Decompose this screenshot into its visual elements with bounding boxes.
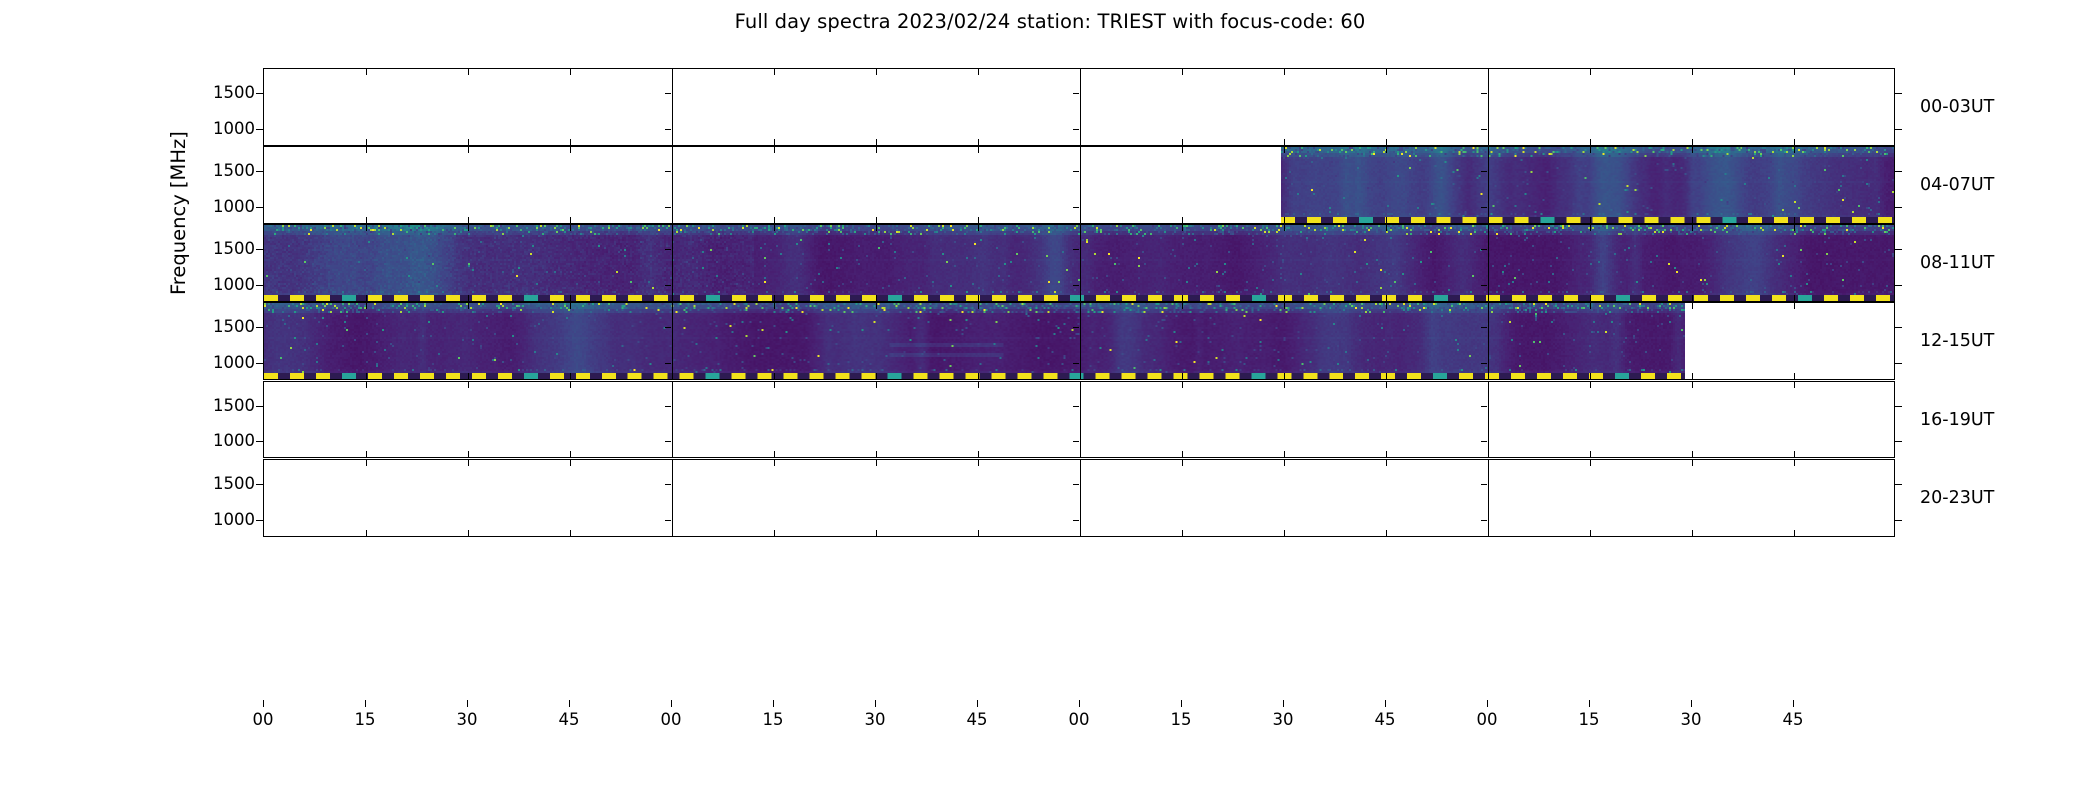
panel-gridline (1488, 382, 1489, 457)
spectrogram-row-panel (263, 224, 1895, 302)
panel-tick-stub (366, 139, 367, 145)
panel-tick-stub (876, 147, 877, 153)
x-tick-mark (773, 700, 774, 707)
x-tick-mark (875, 700, 876, 707)
panel-tick-stub (366, 69, 367, 75)
panel-tick-stub (1284, 382, 1285, 388)
x-tick-mark (263, 700, 264, 707)
panel-tick-stub (1182, 225, 1183, 231)
panel-tick-stub (1590, 147, 1591, 153)
y-tick-label: 1500 (193, 85, 255, 102)
y-tick-label: 1500 (193, 398, 255, 415)
x-tick-label: 45 (1355, 710, 1415, 729)
panel-gridline (1488, 460, 1489, 536)
panel-tick-stub (1590, 139, 1591, 145)
panel-inner-tick (1073, 520, 1079, 521)
y-tick-mark (256, 363, 263, 364)
spectrogram-row-panel (263, 146, 1895, 224)
x-tick-label: 00 (233, 710, 293, 729)
y-tick-label: 1000 (193, 355, 255, 372)
panel-inner-tick (1481, 484, 1487, 485)
y-tick-mark-right (1895, 285, 1902, 286)
panel-tick-stub (1284, 451, 1285, 457)
x-tick-mark (671, 700, 672, 707)
y-tick-mark (256, 129, 263, 130)
panel-gridline (1080, 147, 1081, 223)
panel-tick-stub (1692, 69, 1693, 75)
panel-inner-tick (665, 484, 671, 485)
y-tick-label: 1000 (193, 512, 255, 529)
panel-tick-stub (1692, 373, 1693, 379)
panel-tick-stub (1692, 225, 1693, 231)
y-tick-mark-right (1895, 93, 1902, 94)
panel-tick-stub (366, 382, 367, 388)
x-tick-label: 15 (1559, 710, 1619, 729)
panel-tick-stub (1284, 303, 1285, 309)
panel-inner-tick (665, 520, 671, 521)
x-tick-mark (467, 700, 468, 707)
panel-inner-tick (665, 171, 671, 172)
row-label-20-23ut: 20-23UT (1920, 488, 1994, 508)
panel-tick-stub (1386, 217, 1387, 223)
panel-tick-stub (570, 217, 571, 223)
y-tick-mark (256, 207, 263, 208)
x-tick-label: 30 (437, 710, 497, 729)
spectrogram-row-panel (263, 68, 1895, 146)
panel-tick-stub (1386, 373, 1387, 379)
panel-gridline (1488, 69, 1489, 145)
panel-inner-tick (1481, 441, 1487, 442)
panel-tick-stub (1182, 147, 1183, 153)
panel-tick-stub (1182, 530, 1183, 536)
panel-inner-tick (1073, 171, 1079, 172)
panel-inner-tick (665, 441, 671, 442)
panel-tick-stub (1284, 373, 1285, 379)
x-tick-label: 30 (1253, 710, 1313, 729)
panel-tick-stub (570, 382, 571, 388)
panel-tick-stub (366, 217, 367, 223)
panel-tick-stub (1590, 225, 1591, 231)
panel-tick-stub (1284, 295, 1285, 301)
row-label-08-11ut: 08-11UT (1920, 253, 1994, 273)
panel-tick-stub (1794, 225, 1795, 231)
x-tick-mark (1691, 700, 1692, 707)
panel-tick-stub (1692, 217, 1693, 223)
panel-tick-stub (570, 147, 571, 153)
panel-tick-stub (468, 295, 469, 301)
panel-tick-stub (774, 69, 775, 75)
panel-gridline (1080, 69, 1081, 145)
panel-tick-stub (366, 530, 367, 536)
panel-tick-stub (876, 530, 877, 536)
panel-tick-stub (1794, 69, 1795, 75)
y-tick-label: 1500 (193, 476, 255, 493)
panel-tick-stub (1386, 225, 1387, 231)
panel-gridline (672, 69, 673, 145)
x-tick-mark (1385, 700, 1386, 707)
panel-tick-stub (774, 147, 775, 153)
spectrogram-row-panel (263, 381, 1895, 458)
y-tick-label: 1000 (193, 199, 255, 216)
panel-inner-tick (1073, 207, 1079, 208)
panel-tick-stub (1386, 69, 1387, 75)
spectrogram-row-panel (263, 302, 1895, 380)
panel-tick-stub (774, 295, 775, 301)
row-label-12-15ut: 12-15UT (1920, 331, 1994, 351)
row-label-16-19ut: 16-19UT (1920, 410, 1994, 430)
x-tick-label: 30 (845, 710, 905, 729)
panel-tick-stub (1590, 530, 1591, 536)
y-tick-mark-right (1895, 249, 1902, 250)
panel-inner-tick (1073, 93, 1079, 94)
y-tick-mark (256, 406, 263, 407)
y-tick-mark (256, 441, 263, 442)
panel-gridline (672, 147, 673, 223)
panel-tick-stub (1794, 373, 1795, 379)
panel-inner-tick (665, 363, 671, 364)
panel-tick-stub (1386, 382, 1387, 388)
panel-tick-stub (1386, 451, 1387, 457)
x-tick-mark (977, 700, 978, 707)
panel-tick-stub (978, 295, 979, 301)
y-axis-label-text: Frequency [MHz] (167, 35, 190, 295)
panel-tick-stub (774, 303, 775, 309)
panel-tick-stub (468, 373, 469, 379)
x-tick-mark (1079, 700, 1080, 707)
x-tick-mark (365, 700, 366, 707)
spectrogram-row-panel (263, 459, 1895, 537)
panel-inner-tick (1481, 363, 1487, 364)
panel-tick-stub (1284, 530, 1285, 536)
x-tick-mark (1589, 700, 1590, 707)
y-tick-mark (256, 520, 263, 521)
panel-gridline (1488, 225, 1489, 301)
panel-tick-stub (774, 217, 775, 223)
panel-gridline (1080, 382, 1081, 457)
panel-tick-stub (1182, 139, 1183, 145)
panel-tick-stub (876, 217, 877, 223)
y-tick-label: 1000 (193, 121, 255, 138)
spectrogram-data (264, 303, 1685, 379)
panel-tick-stub (468, 530, 469, 536)
panel-tick-stub (1794, 460, 1795, 466)
panel-tick-stub (1182, 451, 1183, 457)
panel-tick-stub (468, 225, 469, 231)
panel-tick-stub (1794, 530, 1795, 536)
y-tick-mark-right (1895, 171, 1902, 172)
panel-tick-stub (1284, 460, 1285, 466)
panel-tick-stub (1182, 382, 1183, 388)
panel-tick-stub (1182, 303, 1183, 309)
panel-tick-stub (774, 460, 775, 466)
panel-gridline (672, 460, 673, 536)
x-tick-mark (569, 700, 570, 707)
panel-gridline (672, 225, 673, 301)
panel-tick-stub (1590, 303, 1591, 309)
panel-tick-stub (876, 139, 877, 145)
panel-tick-stub (1590, 460, 1591, 466)
panel-tick-stub (1590, 373, 1591, 379)
panel-tick-stub (468, 139, 469, 145)
y-tick-mark-right (1895, 484, 1902, 485)
panel-inner-tick (1073, 441, 1079, 442)
panel-tick-stub (1692, 147, 1693, 153)
panel-tick-stub (978, 530, 979, 536)
panel-tick-stub (366, 295, 367, 301)
panel-tick-stub (1386, 530, 1387, 536)
panel-inner-tick (665, 327, 671, 328)
y-tick-mark-right (1895, 406, 1902, 407)
row-label-04-07ut: 04-07UT (1920, 175, 1994, 195)
y-tick-label: 1000 (193, 433, 255, 450)
panel-tick-stub (570, 373, 571, 379)
panel-gridline (1080, 225, 1081, 301)
panel-tick-stub (876, 295, 877, 301)
panel-tick-stub (1692, 295, 1693, 301)
y-tick-label: 1000 (193, 277, 255, 294)
panel-tick-stub (876, 373, 877, 379)
x-tick-label: 45 (1763, 710, 1823, 729)
panel-tick-stub (1590, 382, 1591, 388)
y-tick-mark-right (1895, 363, 1902, 364)
panel-tick-stub (774, 451, 775, 457)
panel-tick-stub (468, 382, 469, 388)
panel-tick-stub (978, 451, 979, 457)
panel-tick-stub (774, 139, 775, 145)
panel-tick-stub (1794, 382, 1795, 388)
y-tick-mark (256, 93, 263, 94)
panel-tick-stub (1692, 530, 1693, 536)
panel-inner-tick (1073, 406, 1079, 407)
panel-tick-stub (1692, 451, 1693, 457)
panel-tick-stub (1590, 295, 1591, 301)
row-label-00-03ut: 00-03UT (1920, 97, 1994, 117)
panel-tick-stub (1386, 303, 1387, 309)
panel-tick-stub (468, 303, 469, 309)
panel-gridline (1488, 303, 1489, 379)
y-tick-mark-right (1895, 207, 1902, 208)
panel-tick-stub (366, 303, 367, 309)
y-tick-mark (256, 484, 263, 485)
panel-tick-stub (468, 147, 469, 153)
panel-tick-stub (978, 373, 979, 379)
x-tick-mark (1283, 700, 1284, 707)
panel-gridline (1488, 147, 1489, 223)
y-tick-mark (256, 249, 263, 250)
x-tick-label: 00 (641, 710, 701, 729)
panel-tick-stub (468, 217, 469, 223)
panel-tick-stub (876, 460, 877, 466)
panel-inner-tick (665, 406, 671, 407)
panel-tick-stub (1794, 451, 1795, 457)
panel-tick-stub (1590, 69, 1591, 75)
panel-inner-tick (1073, 363, 1079, 364)
y-tick-mark-right (1895, 520, 1902, 521)
panel-tick-stub (570, 69, 571, 75)
panel-tick-stub (978, 147, 979, 153)
panel-tick-stub (876, 382, 877, 388)
panel-inner-tick (1073, 129, 1079, 130)
panel-inner-tick (1481, 285, 1487, 286)
y-tick-mark-right (1895, 327, 1902, 328)
panel-tick-stub (570, 139, 571, 145)
panel-inner-tick (665, 93, 671, 94)
panel-tick-stub (1590, 451, 1591, 457)
x-tick-label: 30 (1661, 710, 1721, 729)
panel-inner-tick (665, 285, 671, 286)
x-tick-label: 45 (539, 710, 599, 729)
panel-tick-stub (570, 225, 571, 231)
x-tick-mark (1181, 700, 1182, 707)
y-tick-mark-right (1895, 129, 1902, 130)
panel-tick-stub (1692, 303, 1693, 309)
panel-tick-stub (1590, 217, 1591, 223)
panel-tick-stub (1386, 295, 1387, 301)
panel-inner-tick (1073, 249, 1079, 250)
panel-tick-stub (1386, 139, 1387, 145)
x-tick-mark (1793, 700, 1794, 707)
panel-tick-stub (774, 225, 775, 231)
panel-tick-stub (366, 147, 367, 153)
panel-tick-stub (1182, 460, 1183, 466)
panel-tick-stub (468, 69, 469, 75)
panel-tick-stub (1386, 460, 1387, 466)
panel-inner-tick (1481, 327, 1487, 328)
spectrogram-figure: Full day spectra 2023/02/24 station: TRI… (0, 0, 2100, 800)
panel-tick-stub (978, 69, 979, 75)
panel-tick-stub (366, 373, 367, 379)
y-tick-mark (256, 327, 263, 328)
panel-gridline (672, 382, 673, 457)
panel-tick-stub (1794, 217, 1795, 223)
panel-inner-tick (1481, 207, 1487, 208)
panel-inner-tick (1481, 129, 1487, 130)
panel-tick-stub (876, 451, 877, 457)
panel-tick-stub (1794, 295, 1795, 301)
panel-tick-stub (978, 303, 979, 309)
panel-tick-stub (876, 303, 877, 309)
panel-tick-stub (1692, 139, 1693, 145)
panel-tick-stub (468, 460, 469, 466)
panel-tick-stub (978, 139, 979, 145)
panel-tick-stub (876, 69, 877, 75)
panel-gridline (1080, 460, 1081, 536)
panel-tick-stub (1386, 147, 1387, 153)
panel-inner-tick (665, 249, 671, 250)
panel-inner-tick (1073, 484, 1079, 485)
y-axis-label: Frequency [MHz] (167, 35, 190, 295)
panel-inner-tick (1481, 520, 1487, 521)
panel-inner-tick (1481, 93, 1487, 94)
x-tick-label: 15 (335, 710, 395, 729)
panel-tick-stub (978, 225, 979, 231)
panel-tick-stub (1794, 303, 1795, 309)
panel-inner-tick (1073, 285, 1079, 286)
panel-tick-stub (1182, 217, 1183, 223)
panel-inner-tick (1481, 249, 1487, 250)
spectrogram-canvas (1281, 147, 1895, 223)
y-tick-label: 1500 (193, 163, 255, 180)
panel-tick-stub (1692, 382, 1693, 388)
panel-gridline (672, 303, 673, 379)
panel-tick-stub (570, 530, 571, 536)
x-tick-mark (1487, 700, 1488, 707)
panel-tick-stub (1794, 139, 1795, 145)
panel-tick-stub (1692, 460, 1693, 466)
x-tick-label: 00 (1049, 710, 1109, 729)
panel-tick-stub (876, 225, 877, 231)
panel-tick-stub (1284, 69, 1285, 75)
x-tick-label: 00 (1457, 710, 1517, 729)
panel-tick-stub (468, 451, 469, 457)
x-axis: 00153045001530450015304500153045 (263, 700, 1895, 740)
panel-tick-stub (1182, 295, 1183, 301)
panel-tick-stub (774, 382, 775, 388)
panel-tick-stub (978, 460, 979, 466)
panel-tick-stub (774, 530, 775, 536)
panel-gridline (1080, 303, 1081, 379)
panel-inner-tick (1073, 327, 1079, 328)
panel-tick-stub (570, 460, 571, 466)
y-tick-label: 1500 (193, 319, 255, 336)
panel-tick-stub (978, 382, 979, 388)
spectrogram-data (1281, 147, 1895, 223)
panel-tick-stub (1182, 373, 1183, 379)
y-tick-label: 1500 (193, 241, 255, 258)
panel-tick-stub (366, 460, 367, 466)
panel-tick-stub (1794, 147, 1795, 153)
panel-tick-stub (366, 225, 367, 231)
x-tick-label: 15 (1151, 710, 1211, 729)
panel-inner-tick (1481, 171, 1487, 172)
panel-tick-stub (1284, 139, 1285, 145)
panel-tick-stub (774, 373, 775, 379)
y-tick-mark (256, 285, 263, 286)
panel-inner-tick (665, 207, 671, 208)
y-tick-mark-right (1895, 441, 1902, 442)
panel-tick-stub (978, 217, 979, 223)
x-tick-label: 45 (947, 710, 1007, 729)
panel-tick-stub (1284, 225, 1285, 231)
spectrogram-canvas (264, 303, 1685, 379)
panel-tick-stub (1182, 69, 1183, 75)
x-tick-label: 15 (743, 710, 803, 729)
panel-inner-tick (1481, 406, 1487, 407)
panel-tick-stub (570, 303, 571, 309)
y-tick-mark (256, 171, 263, 172)
panel-tick-stub (1284, 217, 1285, 223)
panel-tick-stub (570, 451, 571, 457)
panel-inner-tick (665, 129, 671, 130)
panel-tick-stub (1284, 147, 1285, 153)
page-title: Full day spectra 2023/02/24 station: TRI… (0, 10, 2100, 33)
panel-tick-stub (570, 295, 571, 301)
panel-tick-stub (366, 451, 367, 457)
